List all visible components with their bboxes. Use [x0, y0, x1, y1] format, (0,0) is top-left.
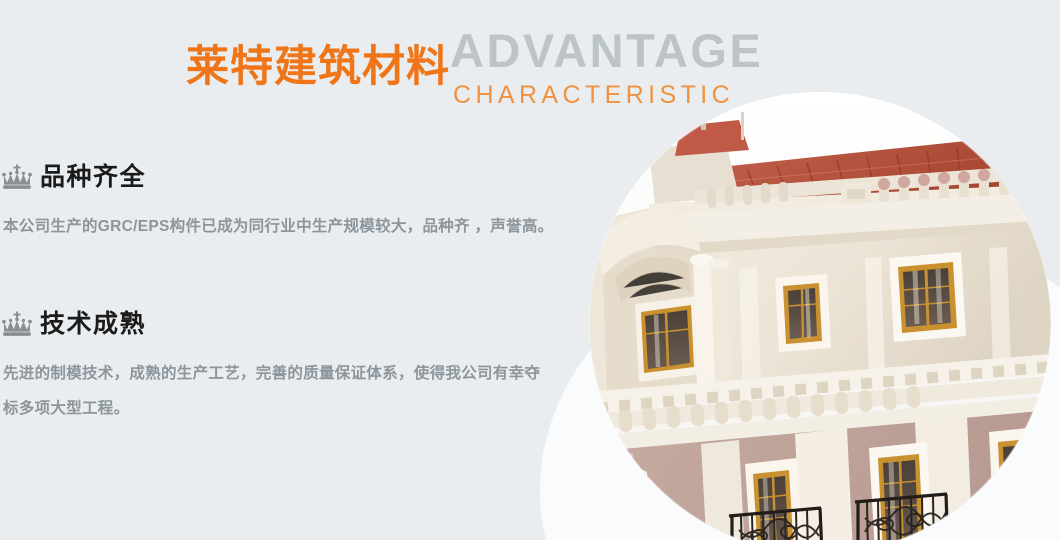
page-title-en-group: ADVANTAGE CHARACTERISTIC: [450, 26, 763, 111]
crown-icon: [2, 311, 32, 337]
crown-icon: [2, 164, 32, 190]
feature-heading: 品种齐全: [0, 158, 566, 196]
feature-title: 技术成熟: [40, 309, 146, 339]
feature-description: 先进的制模技术，成熟的生产工艺，完善的质量保证体系，使得我公司有幸夺标多项大型工…: [0, 356, 555, 426]
feature-item: 技术成熟 先进的制模技术，成熟的生产工艺，完善的质量保证体系，使得我公司有幸夺标…: [0, 305, 566, 426]
feature-list: 品种齐全 本公司生产的GRC/EPS构件已成为同行业中生产规模较大，品种齐 ，声…: [0, 158, 566, 426]
feature-description: 本公司生产的GRC/EPS构件已成为同行业中生产规模较大，品种齐 ，声誉高。: [0, 209, 555, 244]
advantage-banner: 莱特建筑材料 ADVANTAGE CHARACTERISTIC: [0, 0, 1060, 540]
building-photo-illustration: [589, 92, 1051, 540]
banner-header: 莱特建筑材料 ADVANTAGE CHARACTERISTIC: [186, 26, 763, 111]
page-title-en-main: ADVANTAGE: [450, 26, 763, 76]
feature-title: 品种齐全: [40, 162, 146, 192]
page-title-en-sub: CHARACTERISTIC: [450, 79, 763, 111]
page-title-cn: 莱特建筑材料: [186, 40, 450, 94]
feature-heading: 技术成熟: [0, 305, 566, 343]
building-photo: [589, 92, 1051, 540]
feature-item: 品种齐全 本公司生产的GRC/EPS构件已成为同行业中生产规模较大，品种齐 ，声…: [0, 158, 566, 244]
